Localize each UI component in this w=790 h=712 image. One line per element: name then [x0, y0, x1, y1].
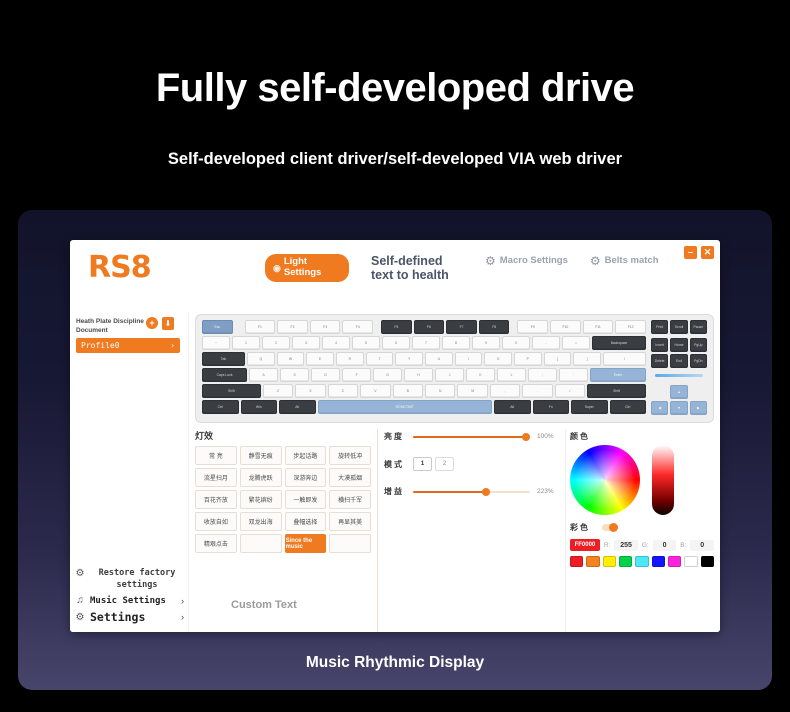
key-z[interactable]: Z — [263, 384, 293, 398]
sidebar-item-settings[interactable]: ⚙ Settings › — [70, 608, 188, 626]
gear-icon: ⚙ — [74, 612, 86, 623]
green-value-field[interactable]: 0 — [653, 540, 677, 551]
key-alt-left[interactable]: Alt — [279, 400, 316, 414]
key-2[interactable]: 2 — [262, 336, 290, 350]
page-title: Fully self-developed drive — [0, 66, 790, 111]
tab-self-defined-text-label: Self-defined text to health — [371, 254, 463, 283]
tab-belts-match[interactable]: ⚙ Belts match — [590, 254, 659, 268]
swatch-red[interactable] — [570, 556, 583, 567]
key-f10[interactable]: F10 — [550, 320, 581, 334]
effect-cell[interactable]: 步起话路 — [285, 446, 327, 465]
key-f7[interactable]: F7 — [446, 320, 477, 334]
profile-name: Profile0 — [81, 341, 120, 350]
gain-value: 223% — [537, 488, 559, 495]
key-x[interactable]: X — [295, 384, 325, 398]
key-q[interactable]: Q — [247, 352, 275, 366]
minimize-button[interactable]: – — [684, 246, 697, 259]
key-m[interactable]: M — [457, 384, 487, 398]
effect-cell[interactable]: 再显其美 — [329, 512, 371, 531]
gain-slider[interactable] — [413, 491, 530, 493]
key-7[interactable]: 7 — [412, 336, 440, 350]
blue-value-field[interactable]: 0 — [690, 540, 714, 551]
key-bracket-right[interactable]: ] — [573, 352, 601, 366]
key-pause[interactable]: Pause — [690, 320, 707, 334]
effect-cell-empty[interactable] — [329, 534, 371, 553]
key-4[interactable]: 4 — [322, 336, 350, 350]
key-alt-right[interactable]: Alt — [494, 400, 531, 414]
key-super[interactable]: Super — [571, 400, 608, 414]
key-l[interactable]: L — [497, 368, 526, 382]
key-page-up[interactable]: PgUp — [690, 338, 707, 352]
effect-cell[interactable]: 常 亮 — [195, 446, 237, 465]
effect-cell[interactable]: 旋转低冲 — [329, 446, 371, 465]
key-delete[interactable]: Delete — [651, 354, 668, 368]
key-r[interactable]: R — [336, 352, 364, 366]
swatch-magenta[interactable] — [668, 556, 681, 567]
key-period[interactable]: . — [522, 384, 552, 398]
gear-icon: ⚙ — [485, 254, 496, 268]
music-settings-label: Music Settings — [90, 596, 166, 606]
device-caption: Music Rhythmic Display — [18, 654, 772, 672]
key-c[interactable]: C — [328, 384, 358, 398]
key-y[interactable]: Y — [395, 352, 423, 366]
colorful-toggle-row: 彩色 — [570, 522, 714, 533]
key-print[interactable]: Print — [651, 320, 668, 334]
red-value-field[interactable]: 255 — [614, 540, 638, 551]
key-t[interactable]: T — [366, 352, 394, 366]
sidebar-actions: + ⬇ — [146, 317, 174, 330]
blue-label: B: — [680, 542, 686, 549]
color-values-row: FF0000 R: 255 G: 0 B: 0 — [570, 539, 714, 551]
key-b[interactable]: B — [393, 384, 423, 398]
key-esc[interactable]: Esc — [202, 320, 233, 334]
key-page-down[interactable]: PgDn — [690, 354, 707, 368]
key-f6[interactable]: F6 — [414, 320, 445, 334]
chevron-right-icon: › — [181, 596, 184, 606]
key-w[interactable]: W — [277, 352, 305, 366]
key-h[interactable]: H — [404, 368, 433, 382]
swatch-cyan[interactable] — [635, 556, 648, 567]
key-ctrl-right[interactable]: Ctrl — [610, 400, 647, 414]
gear-icon: ⚙ — [74, 568, 86, 579]
color-title: 颜色 — [570, 431, 714, 442]
key-s[interactable]: S — [280, 368, 309, 382]
key-enter[interactable]: Enter — [590, 368, 646, 382]
music-note-icon: ♫ — [74, 595, 86, 606]
chevron-right-icon: › — [181, 612, 184, 622]
brightness-slider[interactable] — [413, 436, 530, 438]
gain-slider-knob[interactable] — [482, 488, 490, 496]
keyboard-row-shift: Shift Z X C V B N M , . — [202, 384, 646, 398]
effect-cell[interactable]: 双龙出海 — [240, 512, 282, 531]
brightness-value-bar[interactable] — [652, 445, 674, 515]
key-v[interactable]: V — [360, 384, 390, 398]
tab-macro-settings-label: Macro Settings — [500, 256, 568, 267]
colorful-toggle[interactable] — [602, 524, 618, 531]
controls-area: 灯效 常 亮 静雪无痕 步起话路 旋转低冲 流星扫月 龙腾虎跃 深游奔边 大漠孤… — [189, 427, 720, 632]
key-f11[interactable]: F11 — [583, 320, 614, 334]
led-strip-indicator — [655, 374, 703, 377]
key-f[interactable]: F — [342, 368, 371, 382]
tab-macro-settings[interactable]: ⚙ Macro Settings — [485, 254, 568, 268]
key-backspace[interactable]: Backspace — [592, 336, 646, 350]
effect-cell[interactable]: 繁花缤纷 — [240, 490, 282, 509]
sidebar: Heath Plate Discipline Document + ⬇ Prof… — [70, 312, 189, 632]
lighting-effects-panel: 灯效 常 亮 静雪无痕 步起话路 旋转低冲 流星扫月 龙腾虎跃 深游奔边 大漠孤… — [195, 429, 371, 632]
app-topbar: RS8 ◉ Light Settings Self-defined text t… — [70, 240, 720, 312]
location-pin-icon: ◉ — [273, 263, 281, 273]
key-scroll-lock[interactable]: Scroll — [670, 320, 687, 334]
key-f5[interactable]: F5 — [381, 320, 412, 334]
effect-cell[interactable]: 流星扫月 — [195, 468, 237, 487]
effect-cell[interactable]: 叠幅选择 — [285, 512, 327, 531]
key-equal[interactable]: = — [562, 336, 590, 350]
slider-panel: 亮度 100% 模式 1 — [384, 429, 559, 632]
gain-label: 增益 — [384, 486, 406, 497]
mode-button-1[interactable]: 1 — [413, 457, 432, 471]
keyboard-nav-cluster: Print Scroll Pause Insert Home PgUp — [651, 320, 707, 417]
key-slash[interactable]: / — [555, 384, 585, 398]
keyboard-row-bottom: Ctrl Win Alt ROMCTMIT Alt Fn Super Ctrl — [202, 400, 646, 414]
key-8[interactable]: 8 — [442, 336, 470, 350]
effect-cell[interactable]: 收放自如 — [195, 512, 237, 531]
color-panel: 颜色 彩色 FF0000 R: — [565, 429, 714, 632]
window-controls: – ✕ — [684, 246, 714, 259]
key-arrow-left[interactable]: ◀ — [651, 401, 668, 415]
settings-label: Settings — [90, 610, 145, 624]
import-profile-button[interactable]: ⬇ — [162, 317, 174, 330]
key-f3[interactable]: F3 — [310, 320, 341, 334]
sidebar-item-restore-factory-settings[interactable]: ⚙ Restore factory settings — [70, 566, 188, 593]
brightness-value: 100% — [537, 433, 559, 440]
key-0[interactable]: 0 — [502, 336, 530, 350]
key-n[interactable]: N — [425, 384, 455, 398]
hex-color-field[interactable]: FF0000 — [570, 539, 600, 551]
swatch-green[interactable] — [619, 556, 632, 567]
tab-light-settings-label: Light Settings — [284, 257, 337, 279]
key-u[interactable]: U — [425, 352, 453, 366]
app-body: Heath Plate Discipline Document + ⬇ Prof… — [70, 312, 720, 632]
key-6[interactable]: 6 — [382, 336, 410, 350]
gear-icon: ⚙ — [590, 254, 601, 268]
device-showcase-panel: – ✕ RS8 ◉ Light Settings Self-defined te… — [18, 210, 772, 690]
key-d[interactable]: D — [311, 368, 340, 382]
key-arrow-right[interactable]: ▶ — [690, 401, 707, 415]
key-e[interactable]: E — [306, 352, 334, 366]
panel-divider — [377, 429, 378, 632]
key-i[interactable]: I — [455, 352, 483, 366]
key-caps-lock[interactable]: Caps Lock — [202, 368, 247, 382]
mode-label: 模式 — [384, 459, 406, 470]
effect-cell[interactable]: 精艰点击 — [195, 534, 237, 553]
key-a[interactable]: A — [249, 368, 278, 382]
key-p[interactable]: P — [514, 352, 542, 366]
key-fn[interactable]: Fn — [533, 400, 570, 414]
key-end[interactable]: End — [670, 354, 687, 368]
key-semicolon[interactable]: ; — [528, 368, 557, 382]
main-content: Esc F1 F2 F3 F4 F5 F6 F7 — [189, 312, 720, 632]
red-label: R: — [604, 542, 611, 549]
key-shift-right[interactable]: Shift — [587, 384, 646, 398]
mode-button-2[interactable]: 2 — [435, 457, 454, 471]
keyboard-row-qwerty: Tab Q W E R T Y U I O — [202, 352, 646, 366]
sidebar-doc-label: Heath Plate Discipline Document — [76, 318, 146, 336]
key-space[interactable]: ROMCTMIT — [318, 400, 493, 414]
swatch-yellow[interactable] — [603, 556, 616, 567]
effect-cell[interactable]: 横扫千军 — [329, 490, 371, 509]
key-minus[interactable]: - — [532, 336, 560, 350]
key-bracket-left[interactable]: [ — [544, 352, 572, 366]
swatch-blue[interactable] — [652, 556, 665, 567]
color-wheel[interactable] — [570, 445, 640, 515]
key-quote[interactable]: ' — [559, 368, 588, 382]
custom-text-overlay: Custom Text — [231, 599, 297, 611]
app-logo: RS8 — [88, 250, 151, 285]
key-f1[interactable]: F1 — [245, 320, 276, 334]
key-insert[interactable]: Insert — [651, 338, 668, 352]
key-tilde[interactable]: ~ — [202, 336, 230, 350]
key-backslash[interactable]: \ — [603, 352, 646, 366]
key-1[interactable]: 1 — [232, 336, 260, 350]
effect-cell[interactable]: 深游奔边 — [285, 468, 327, 487]
swatch-white[interactable] — [684, 556, 697, 567]
key-arrow-down[interactable]: ▼ — [670, 401, 687, 415]
key-f12[interactable]: F12 — [615, 320, 646, 334]
brightness-row: 亮度 100% — [384, 431, 559, 442]
effect-cell[interactable]: 大漠孤烟 — [329, 468, 371, 487]
tab-self-defined-text[interactable]: Self-defined text to health — [371, 254, 463, 283]
key-f9[interactable]: F9 — [517, 320, 548, 334]
keyboard-row-home: Caps Lock A S D F G H J K L — [202, 368, 646, 382]
nav-tabs: ◉ Light Settings Self-defined text to he… — [265, 254, 659, 283]
key-j[interactable]: J — [435, 368, 464, 382]
brightness-label: 亮度 — [384, 431, 406, 442]
gain-row: 增益 223% — [384, 486, 559, 497]
colorful-label: 彩色 — [570, 522, 590, 533]
key-f8[interactable]: F8 — [479, 320, 510, 334]
key-k[interactable]: K — [466, 368, 495, 382]
key-shift-left[interactable]: Shift — [202, 384, 261, 398]
key-ctrl-left[interactable]: Ctrl — [202, 400, 239, 414]
key-win[interactable]: Win — [241, 400, 278, 414]
green-label: G: — [642, 542, 649, 549]
keyboard-preview[interactable]: Esc F1 F2 F3 F4 F5 F6 F7 — [195, 314, 714, 423]
brightness-slider-knob[interactable] — [522, 433, 530, 441]
key-arrow-up[interactable]: ▲ — [670, 385, 687, 399]
swatch-orange[interactable] — [586, 556, 599, 567]
color-swatches — [570, 556, 714, 567]
effect-cell-empty[interactable] — [240, 534, 282, 553]
close-button[interactable]: ✕ — [701, 246, 714, 259]
tab-belts-match-label: Belts match — [605, 256, 659, 267]
effect-cell[interactable]: 龙腾虎跃 — [240, 468, 282, 487]
driver-app-window: – ✕ RS8 ◉ Light Settings Self-defined te… — [70, 240, 720, 632]
key-home[interactable]: Home — [670, 338, 687, 352]
key-g[interactable]: G — [373, 368, 402, 382]
page-subtitle: Self-developed client driver/self-develo… — [0, 150, 790, 169]
sidebar-item-music-settings[interactable]: ♫ Music Settings › — [70, 593, 188, 608]
lighting-effects-grid: 常 亮 静雪无痕 步起话路 旋转低冲 流星扫月 龙腾虎跃 深游奔边 大漠孤烟 百… — [195, 446, 371, 553]
effect-cell[interactable]: 静雪无痕 — [240, 446, 282, 465]
keyboard-row-numbers: ~ 1 2 3 4 5 6 7 8 9 — [202, 336, 646, 350]
chevron-right-icon: › — [170, 341, 175, 350]
lighting-effects-title: 灯效 — [195, 429, 371, 442]
mode-row: 模式 1 2 — [384, 457, 559, 471]
swatch-black[interactable] — [701, 556, 714, 567]
effect-cell[interactable]: 百花齐放 — [195, 490, 237, 509]
key-o[interactable]: O — [484, 352, 512, 366]
profile-item-profile0[interactable]: Profile0 › — [76, 338, 180, 353]
key-tab[interactable]: Tab — [202, 352, 245, 366]
key-9[interactable]: 9 — [472, 336, 500, 350]
screenshot-root: Fully self-developed drive Self-develope… — [0, 0, 790, 712]
effect-cell-active[interactable]: Since the music — [285, 534, 327, 553]
keyboard-row-function: Esc F1 F2 F3 F4 F5 F6 F7 — [202, 320, 646, 334]
mode-buttons: 1 2 — [413, 457, 454, 471]
key-comma[interactable]: , — [490, 384, 520, 398]
restore-factory-settings-label: Restore factory settings — [90, 568, 184, 591]
key-f4[interactable]: F4 — [342, 320, 373, 334]
key-f2[interactable]: F2 — [277, 320, 308, 334]
key-3[interactable]: 3 — [292, 336, 320, 350]
key-5[interactable]: 5 — [352, 336, 380, 350]
sidebar-bottom-menu: ⚙ Restore factory settings ♫ Music Setti… — [70, 566, 188, 626]
tab-light-settings[interactable]: ◉ Light Settings — [265, 254, 349, 282]
effect-cell[interactable]: 一触即发 — [285, 490, 327, 509]
add-profile-button[interactable]: + — [146, 317, 158, 329]
